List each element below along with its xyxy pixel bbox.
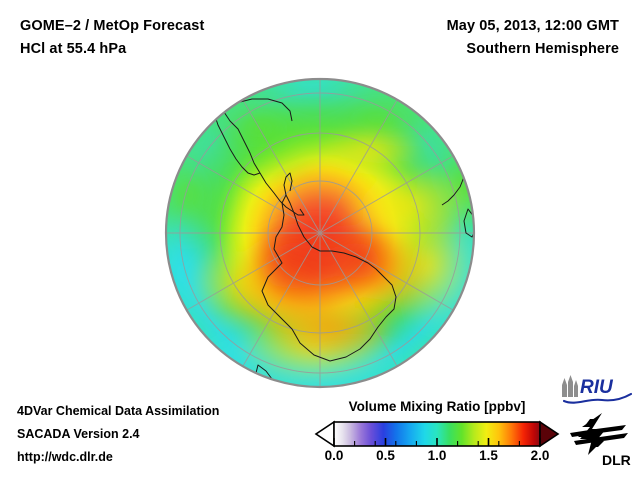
footer-line-version: SACADA Version 2.4: [17, 427, 140, 441]
forecast-datetime: May 05, 2013, 12:00 GMT: [447, 18, 619, 34]
polar-orthographic-map: [164, 77, 476, 389]
globe-graphic: [164, 77, 476, 389]
forecast-map-page: GOME–2 / MetOp Forecast HCl at 55.4 hPa …: [0, 0, 640, 480]
colorbar-tick-3: 1.5: [479, 448, 498, 463]
dlr-mark-icon: [570, 413, 628, 455]
page-title: GOME–2 / MetOp Forecast: [20, 18, 204, 34]
dlr-logo-graphic: DLR: [566, 411, 634, 469]
colorbar-extend-high: [540, 422, 558, 446]
colorbar-extend-low: [316, 422, 334, 446]
colorbar-gradient: [312, 420, 562, 448]
colorbar-title: Volume Mixing Ratio [ppbv]: [312, 399, 562, 414]
riu-logo-graphic: RIU: [558, 373, 634, 407]
riu-logo: RIU: [558, 373, 634, 407]
footer-line-url[interactable]: http://wdc.dlr.de: [17, 450, 113, 464]
colorbar-tick-4: 2.0: [531, 448, 550, 463]
colorbar-tick-1: 0.5: [376, 448, 395, 463]
colorbar-tick-2: 1.0: [428, 448, 447, 463]
riu-wordmark: RIU: [580, 377, 614, 398]
region-label: Southern Hemisphere: [466, 41, 619, 57]
colorbar-tick-0: 0.0: [325, 448, 344, 463]
footer-line-method: 4DVar Chemical Data Assimilation: [17, 404, 219, 418]
colorbar: Volume Mixing Ratio [ppbv]: [312, 399, 562, 471]
colorbar-tick-labels: 0.0 0.5 1.0 1.5 2.0: [312, 448, 562, 468]
riu-tower-icon: [562, 375, 578, 397]
dlr-logo: DLR: [566, 411, 634, 469]
dlr-wordmark: DLR: [602, 452, 631, 468]
page-subtitle: HCl at 55.4 hPa: [20, 41, 126, 57]
